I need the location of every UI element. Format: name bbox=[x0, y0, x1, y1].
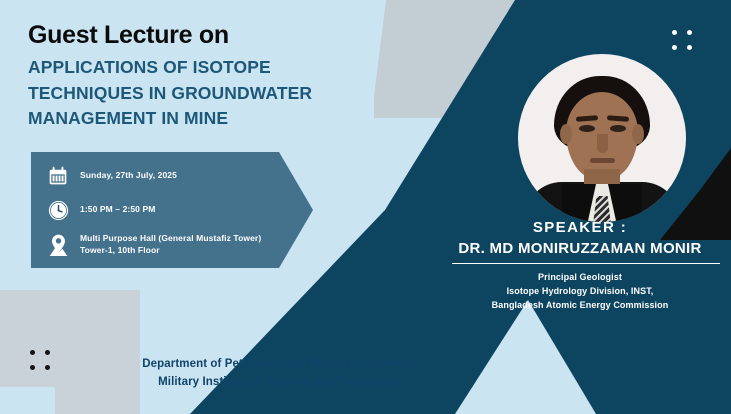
dot bbox=[687, 45, 692, 50]
dot bbox=[687, 30, 692, 35]
event-time-row: 1:50 PM – 2:50 PM bbox=[47, 199, 279, 221]
info-box-arrow bbox=[279, 152, 313, 268]
event-location-line-2: Tower-1, 10th Floor bbox=[80, 245, 261, 257]
event-location-text: Multi Purpose Hall (General Mustafiz Tow… bbox=[80, 233, 261, 256]
speaker-block: SPEAKER : DR. MD MONIRUZZAMAN MONIR Prin… bbox=[430, 219, 730, 313]
page-subtitle: APPLICATIONS OF ISOTOPE TECHNIQUES IN GR… bbox=[28, 55, 428, 131]
event-details-box: Sunday, 27th July, 2025 1:50 PM – 2:50 P… bbox=[31, 152, 279, 268]
speaker-photo bbox=[518, 54, 686, 222]
page-title: Guest Lecture on bbox=[28, 22, 428, 48]
calendar-icon bbox=[47, 165, 69, 187]
dot bbox=[672, 45, 677, 50]
portrait-nose bbox=[597, 134, 608, 153]
dot bbox=[30, 350, 35, 355]
poster-canvas: Guest Lecture on APPLICATIONS OF ISOTOPE… bbox=[0, 0, 731, 414]
event-date-row: Sunday, 27th July, 2025 bbox=[47, 165, 279, 187]
speaker-affiliation-line-3: Bangladesh Atomic Energy Commission bbox=[430, 299, 730, 313]
speaker-affiliation-line-1: Principal Geologist bbox=[430, 271, 730, 285]
location-pin-icon bbox=[47, 234, 69, 256]
event-time-text: 1:50 PM – 2:50 PM bbox=[80, 204, 155, 216]
event-date-text: Sunday, 27th July, 2025 bbox=[80, 170, 177, 182]
dot bbox=[45, 365, 50, 370]
subtitle-line-3: MANAGEMENT IN MINE bbox=[28, 106, 428, 131]
portrait-ear-left bbox=[560, 124, 572, 144]
subtitle-line-2: TECHNIQUES IN GROUNDWATER bbox=[28, 81, 428, 106]
portrait-eye-right bbox=[610, 125, 626, 132]
dot-cluster-top-right bbox=[672, 30, 694, 52]
speaker-affiliation: Principal Geologist Isotope Hydrology Di… bbox=[430, 271, 730, 313]
speaker-divider bbox=[452, 263, 720, 264]
speaker-label: SPEAKER : bbox=[430, 219, 730, 236]
footer-block: Department of Petroleum and Mining Engin… bbox=[0, 356, 560, 392]
speaker-affiliation-line-2: Isotope Hydrology Division, INST, bbox=[430, 285, 730, 299]
clock-icon bbox=[47, 199, 69, 221]
portrait-ear-right bbox=[632, 124, 644, 144]
heading-block: Guest Lecture on APPLICATIONS OF ISOTOPE… bbox=[28, 22, 428, 131]
portrait-eye-left bbox=[579, 125, 595, 132]
event-location-line-1: Multi Purpose Hall (General Mustafiz Tow… bbox=[80, 233, 261, 245]
dot bbox=[45, 350, 50, 355]
portrait-mouth bbox=[590, 158, 615, 163]
footer-line-1: Department of Petroleum and Mining Engin… bbox=[0, 356, 560, 374]
dot-cluster-bottom-left bbox=[30, 350, 52, 372]
speaker-name: DR. MD MONIRUZZAMAN MONIR bbox=[430, 240, 730, 257]
dot bbox=[30, 365, 35, 370]
subtitle-line-1: APPLICATIONS OF ISOTOPE bbox=[28, 55, 428, 80]
footer-line-2: Military Institute of Science and Techno… bbox=[0, 374, 560, 392]
dot bbox=[672, 30, 677, 35]
event-location-row: Multi Purpose Hall (General Mustafiz Tow… bbox=[47, 233, 279, 256]
